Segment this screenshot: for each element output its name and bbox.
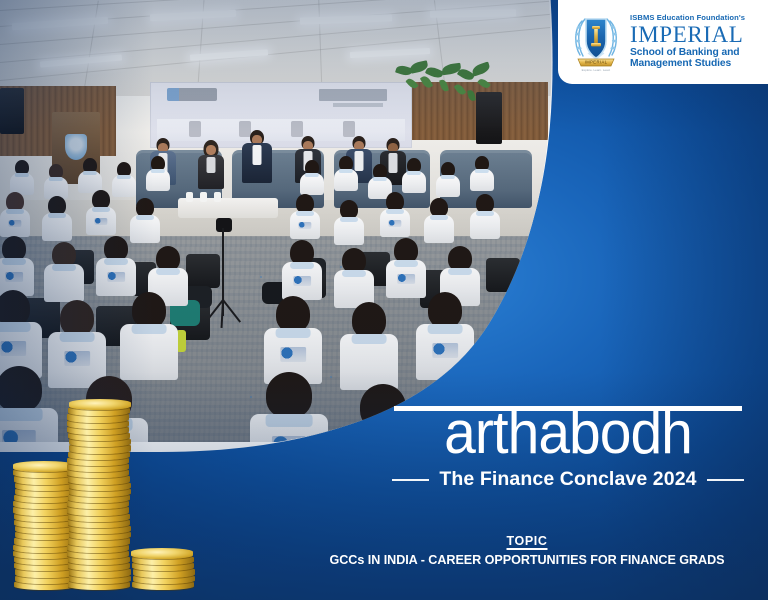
coin-stack-middle xyxy=(68,394,130,590)
svg-text:Explore. Learn. Lead.: Explore. Learn. Lead. xyxy=(582,68,611,72)
institution-logo-card: IMPERIAL Explore. Learn. Lead. ISBMS Edu… xyxy=(558,0,768,84)
logo-line-imperial: IMPERIAL xyxy=(630,23,745,47)
gold-coin xyxy=(131,548,193,559)
loudspeaker xyxy=(0,88,24,134)
svg-text:IMPERIAL: IMPERIAL xyxy=(585,60,608,65)
arthabodh-wordmark: arthabodh xyxy=(392,398,744,464)
screen-portrait xyxy=(291,121,303,137)
screen-subtitle xyxy=(333,103,383,107)
coin-stack-left xyxy=(14,456,76,590)
rule-right xyxy=(707,479,744,481)
topic-label: TOPIC xyxy=(300,534,754,548)
panel-discussion-photo xyxy=(0,0,552,442)
subtitle-row: The Finance Conclave 2024 xyxy=(392,468,744,491)
event-subtitle: The Finance Conclave 2024 xyxy=(439,468,696,491)
screen-logo xyxy=(167,88,217,101)
logo-text-block: ISBMS Education Foundation's IMPERIAL Sc… xyxy=(630,14,745,70)
event-title-block: arthabodh The Finance Conclave 2024 xyxy=(392,398,744,491)
screen-portrait xyxy=(343,121,355,137)
logo-line-school-2: Management Studies xyxy=(630,59,745,70)
rule-left xyxy=(392,479,429,481)
screen-portrait xyxy=(189,121,201,137)
loudspeaker xyxy=(476,92,502,144)
gold-coin xyxy=(13,461,75,472)
gold-coin-stacks xyxy=(4,400,234,600)
arthabodh-text: arthabodh xyxy=(392,400,744,466)
logo-line-foundation: ISBMS Education Foundation's xyxy=(630,14,745,22)
coin-stack-right xyxy=(132,543,194,590)
poster-canvas: IMPERIAL Explore. Learn. Lead. ISBMS Edu… xyxy=(0,0,768,600)
topic-text: GCCs IN INDIA - CAREER OPPORTUNITIES FOR… xyxy=(300,553,754,567)
gold-coin xyxy=(69,399,131,410)
screen-wordmark xyxy=(319,89,387,101)
topic-block: TOPIC GCCs IN INDIA - CAREER OPPORTUNITI… xyxy=(300,534,754,567)
imperial-shield-crest: IMPERIAL Explore. Learn. Lead. xyxy=(568,11,624,73)
